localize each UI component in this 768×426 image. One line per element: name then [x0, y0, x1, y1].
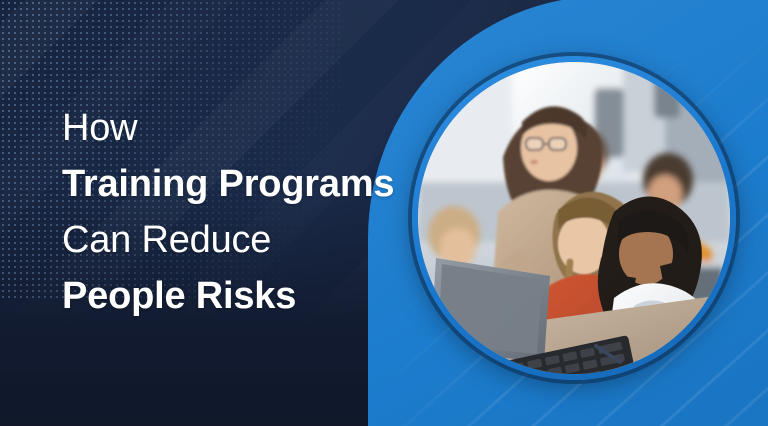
headline-line-3: Can Reduce: [62, 212, 422, 268]
circular-photo: [418, 62, 730, 374]
headline-line-1: How: [62, 100, 422, 156]
circular-photo-frame: [412, 56, 736, 380]
headline-line-4: People Risks: [62, 268, 422, 324]
promo-banner: How Training Programs Can Reduce People …: [0, 0, 768, 426]
classroom-training-photo: [418, 62, 730, 374]
headline-line-2: Training Programs: [62, 156, 422, 212]
headline: How Training Programs Can Reduce People …: [62, 100, 422, 324]
